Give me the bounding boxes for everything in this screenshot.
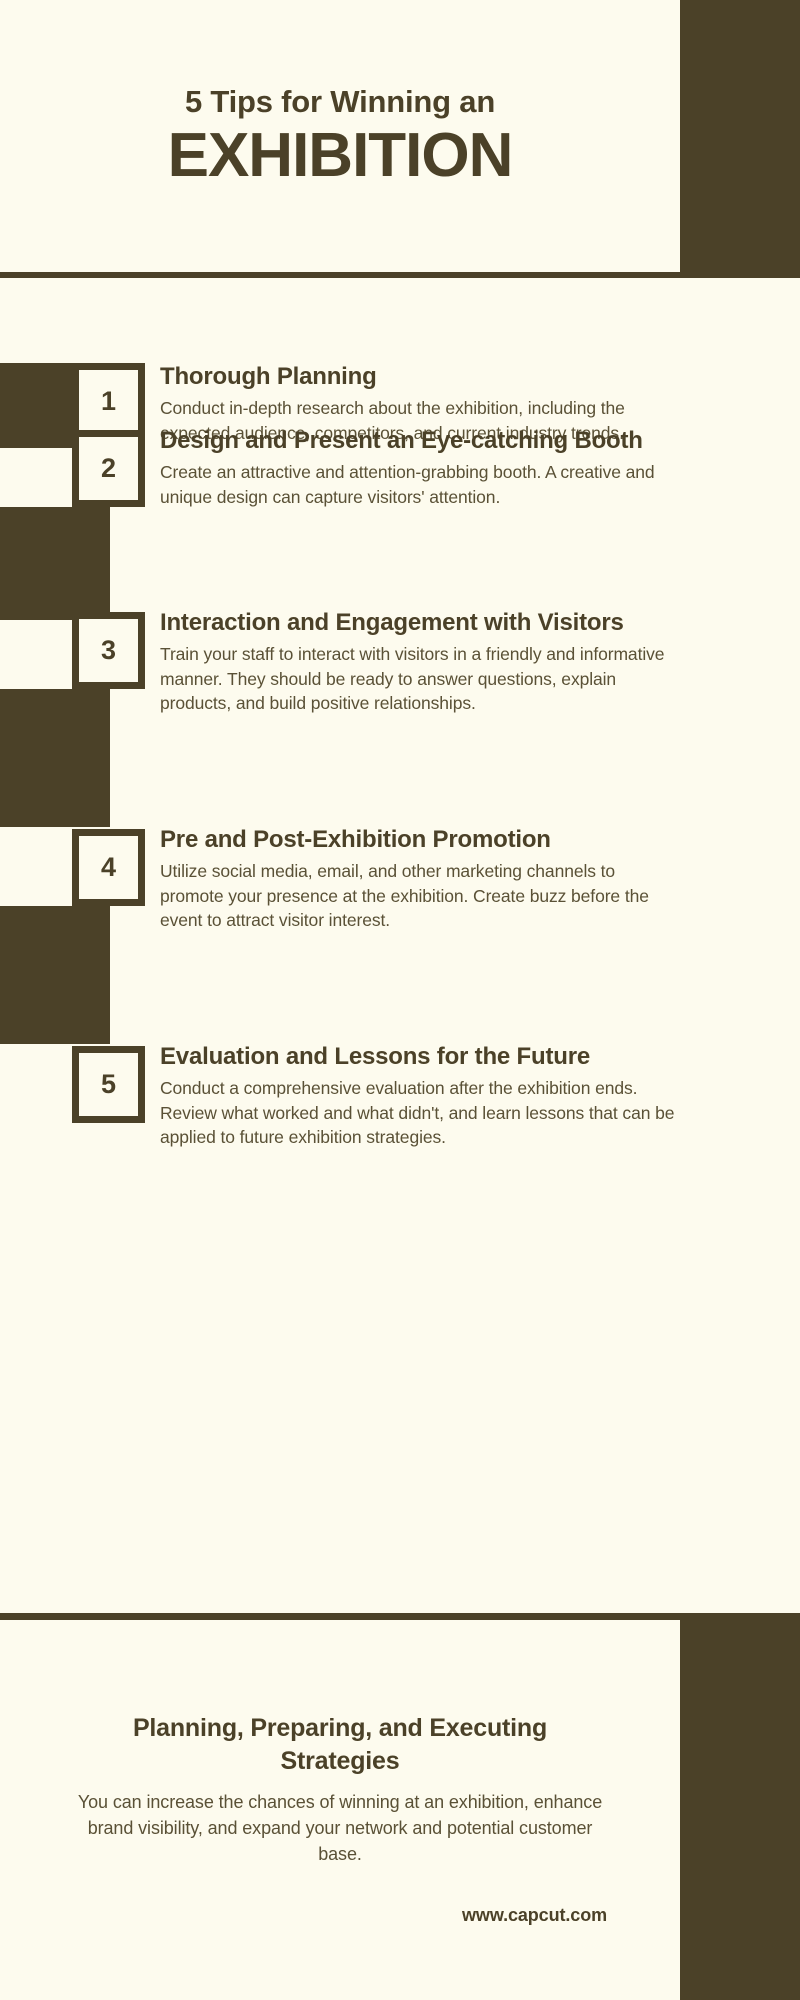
- item-number-badge: 4: [72, 829, 145, 906]
- item-number-badge: 5: [72, 1046, 145, 1123]
- item-title: Evaluation and Lessons for the Future: [160, 1042, 680, 1073]
- footer-card: Planning, Preparing, and Executing Strat…: [0, 1620, 680, 2000]
- item-body: Create an attractive and attention-grabb…: [160, 460, 680, 510]
- page-title: EXHIBITION: [168, 125, 513, 187]
- item-body: Utilize social media, email, and other m…: [160, 859, 680, 934]
- header-eyebrow: 5 Tips for Winning an: [185, 85, 495, 119]
- footer-right-accent-panel: [680, 1613, 800, 2000]
- item-accent-block: [0, 906, 110, 1044]
- item-text-group: Design and Present an Eye-catching Booth…: [160, 426, 680, 509]
- item-text-group: Evaluation and Lessons for the Future Co…: [160, 1042, 680, 1150]
- footer-url[interactable]: www.capcut.com: [73, 1905, 607, 1926]
- header-right-accent-panel: [680, 0, 800, 272]
- list-item: 3 Interaction and Engagement with Visito…: [0, 612, 800, 827]
- footer-body: You can increase the chances of winning …: [73, 1789, 607, 1867]
- header-card: 5 Tips for Winning an EXHIBITION: [0, 0, 680, 272]
- list-item: 1 Thorough Planning Conduct in-depth res…: [0, 278, 800, 448]
- item-text-group: Pre and Post-Exhibition Promotion Utiliz…: [160, 825, 680, 933]
- item-number-badge: 2: [72, 430, 145, 507]
- item-body: Conduct a comprehensive evaluation after…: [160, 1076, 680, 1151]
- footer-section: Planning, Preparing, and Executing Strat…: [0, 1613, 800, 2000]
- item-text-group: Interaction and Engagement with Visitors…: [160, 608, 680, 716]
- item-title: Thorough Planning: [160, 362, 680, 393]
- item-title: Pre and Post-Exhibition Promotion: [160, 825, 680, 856]
- list-item: 5 Evaluation and Lessons for the Future …: [0, 1046, 800, 1246]
- item-accent-block: [0, 689, 110, 827]
- item-body: Train your staff to interact with visito…: [160, 642, 680, 717]
- item-title: Design and Present an Eye-catching Booth: [160, 426, 680, 457]
- item-title: Interaction and Engagement with Visitors: [160, 608, 680, 639]
- tips-list: 1 Thorough Planning Conduct in-depth res…: [0, 278, 800, 1613]
- footer-title: Planning, Preparing, and Executing Strat…: [73, 1712, 607, 1777]
- item-accent-block: [0, 507, 110, 620]
- list-item: 4 Pre and Post-Exhibition Promotion Util…: [0, 829, 800, 1044]
- header-section: 5 Tips for Winning an EXHIBITION: [0, 0, 800, 278]
- item-number-badge: 3: [72, 612, 145, 689]
- item-number-badge: 1: [72, 363, 145, 440]
- list-item: 2 Design and Present an Eye-catching Boo…: [0, 430, 800, 620]
